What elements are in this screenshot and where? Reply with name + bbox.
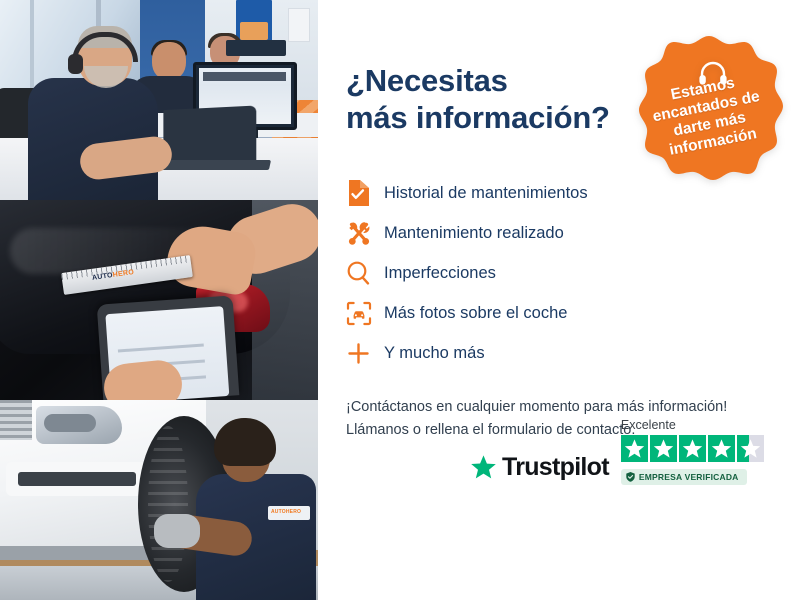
magnifier-icon (346, 260, 384, 286)
feature-label: Historial de mantenimientos (384, 184, 588, 203)
feature-item-much-more: Y mucho más (346, 334, 800, 372)
car-focus-frame-icon (346, 301, 384, 326)
radiator-grille (0, 400, 32, 440)
feature-label: Y mucho más (384, 344, 485, 363)
work-glove (154, 514, 200, 548)
content-column: ¿Necesitas más información? Estamos enca… (318, 0, 800, 600)
star-tile (737, 435, 764, 462)
uniform-autohero-logo (268, 506, 310, 520)
rating-label: Excelente (621, 418, 764, 432)
feature-item-imperfections: Imperfecciones (346, 254, 800, 292)
trustpilot-score: Excelente (621, 418, 764, 485)
photo-mechanic-inspecting-tire-on-lift (0, 400, 318, 600)
trustpilot-star-icon (470, 454, 497, 481)
mechanic (196, 418, 316, 600)
verified-label: EMPRESA VERIFICADA (639, 472, 739, 482)
trustpilot-logo[interactable]: Trustpilot (470, 453, 609, 485)
star-rating (621, 435, 764, 462)
photo-inspector-measuring-car-with-autohero-ruler: AUTOHERO (0, 200, 318, 400)
star-tile (679, 435, 706, 462)
wall-poster (288, 8, 310, 42)
agent-foreground (28, 28, 158, 200)
headlight-lens (44, 414, 96, 432)
plus-icon (346, 341, 384, 366)
feature-list: Historial de mantenimientos M (346, 174, 800, 372)
photo-call-center-agents-with-headsets (0, 0, 318, 200)
photo-column: AUTOHERO (0, 0, 318, 600)
heading-line-1: ¿Necesitas (346, 63, 508, 98)
feature-label: Más fotos sobre el coche (384, 304, 567, 323)
laptop-screen (163, 105, 256, 166)
headlight (36, 406, 122, 444)
contact-line-1: ¡Contáctanos en cualquier momento para m… (346, 399, 727, 415)
lift-arm (0, 546, 160, 560)
tire-tread (148, 426, 188, 582)
status-badge: EMPRESA VERIFICADA (621, 469, 747, 485)
trustpilot-rating[interactable]: Trustpilot Excelente (470, 418, 764, 485)
feature-label: Imperfecciones (384, 264, 496, 283)
feature-item-more-car-photos: Más fotos sobre el coche (346, 294, 800, 332)
star-tile (621, 435, 648, 462)
feature-label: Mantenimiento realizado (384, 224, 564, 243)
page-title: ¿Necesitas más información? (346, 62, 646, 136)
heading-line-2: más información? (346, 100, 610, 135)
bumper-vent (18, 472, 136, 486)
headset-earcup (68, 54, 83, 74)
tools-cross-icon (346, 220, 384, 246)
support-badge: Estamos encantados de darte más informac… (627, 34, 791, 198)
trustpilot-wordmark: Trustpilot (502, 453, 609, 482)
hair (214, 418, 276, 466)
verified-shield-icon (626, 472, 635, 482)
star-tile (708, 435, 735, 462)
feature-item-maintenance-done: Mantenimiento realizado (346, 214, 800, 252)
second-monitor (226, 40, 286, 56)
document-check-icon (346, 180, 384, 206)
star-tile (650, 435, 677, 462)
promo-panel: AUTOHERO (0, 0, 800, 600)
